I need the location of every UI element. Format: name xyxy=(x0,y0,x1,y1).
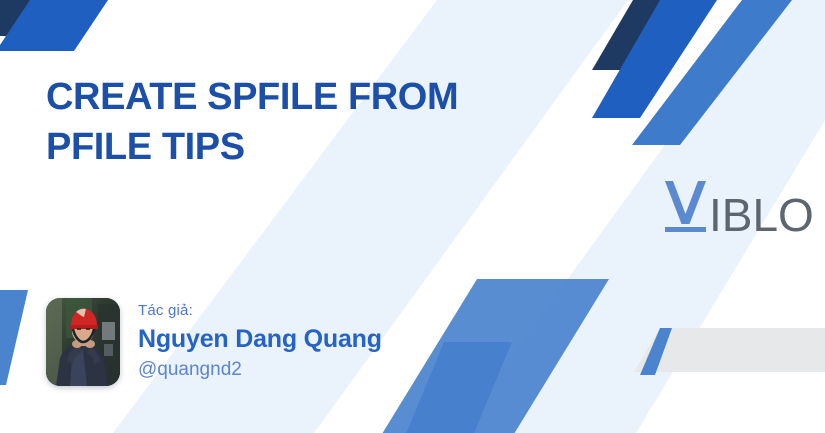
author-name: Nguyen Dang Quang xyxy=(138,324,382,355)
author-block: Tác giả: Nguyen Dang Quang @quangnd2 xyxy=(46,298,382,386)
viblo-logo-text: IBLO xyxy=(709,192,814,238)
author-handle: @quangnd2 xyxy=(138,357,382,383)
bottom-right-soft-blue-parallelogram-icon xyxy=(366,279,609,433)
avatar-photo xyxy=(46,298,120,386)
viblo-logo: IBLO xyxy=(662,182,814,238)
avatar xyxy=(46,298,120,386)
viblo-logo-v-mark xyxy=(662,177,709,238)
viblo-article-banner: CREATE SPFILE FROM PFILE TIPS IBLO xyxy=(0,0,825,433)
bottom-left-blue-parallelogram-icon xyxy=(0,290,28,385)
title-block: CREATE SPFILE FROM PFILE TIPS xyxy=(46,72,566,172)
page-title: CREATE SPFILE FROM PFILE TIPS xyxy=(46,72,566,172)
author-label: Tác giả: xyxy=(138,301,382,321)
author-text: Tác giả: Nguyen Dang Quang @quangnd2 xyxy=(138,301,382,383)
letter-v-icon xyxy=(662,177,709,233)
